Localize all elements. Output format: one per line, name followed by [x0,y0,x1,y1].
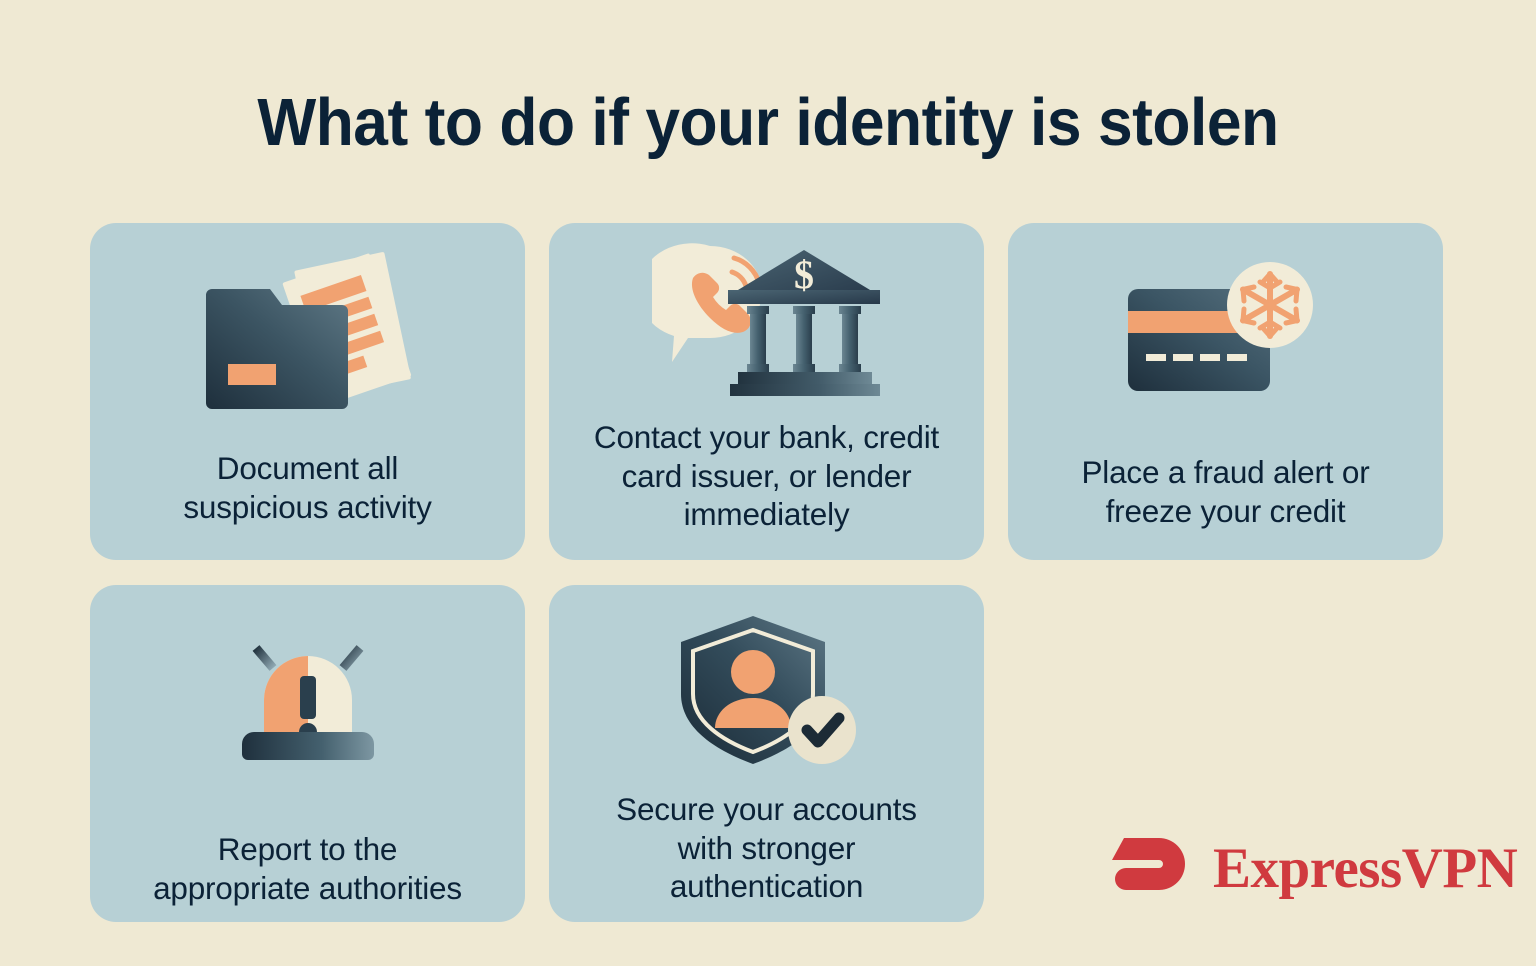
card-fraud-alert-freeze: Place a fraud alert or freeze your credi… [1008,223,1443,560]
card-label: Secure your accounts with stronger authe… [549,790,984,906]
cards-grid: Document all suspicious activity [90,223,1444,922]
shield-user-check-icon [549,585,984,782]
card-document-activity: Document all suspicious activity [90,223,525,560]
page-title: What to do if your identity is stolen [54,83,1482,163]
svg-text:$: $ [794,252,814,297]
card-label: Place a fraud alert or freeze your credi… [1008,453,1443,530]
card-secure-accounts: Secure your accounts with stronger authe… [549,585,984,922]
alarm-siren-icon [90,585,525,812]
card-contact-bank: $ Contact your bank, credit c [549,223,984,560]
folder-documents-icon [90,223,525,437]
card-label: Contact your bank, credit card issuer, o… [549,418,984,534]
credit-card-freeze-icon [1008,223,1443,437]
card-report-authorities: Report to the appropriate authorities [90,585,525,922]
expressvpn-logo[interactable]: ExpressVPN [1104,833,1517,903]
brand-wordmark: ExpressVPN [1213,840,1517,897]
bank-phone-call-icon: $ [549,223,984,414]
card-label: Document all suspicious activity [90,449,525,526]
card-label: Report to the appropriate authorities [90,830,525,907]
expressvpn-e-mark-icon [1104,836,1196,900]
